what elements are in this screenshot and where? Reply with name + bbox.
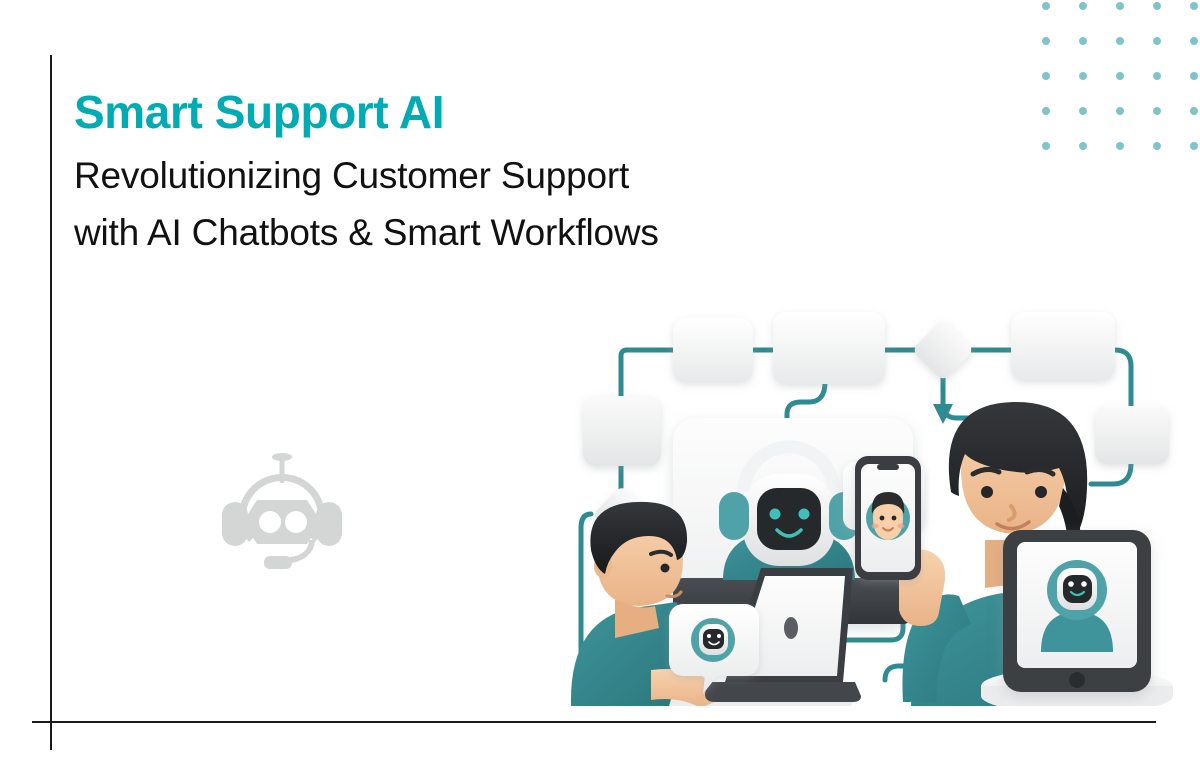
flowchart-box-3 [1011,312,1115,380]
decorative-dot [1190,2,1198,10]
flowchart-box-1 [673,318,753,382]
dot-grid-decoration [1042,2,1200,162]
decorative-dot [1190,37,1198,45]
bottom-horizontal-rule [32,721,1156,723]
flowchart-box-2 [773,312,885,384]
decorative-dot [1042,142,1050,150]
decorative-dot [1079,142,1087,150]
tablet-with-bot-avatar [981,530,1173,706]
phone-with-avatar [855,456,921,580]
decorative-dot [1153,107,1161,115]
decorative-dot [1116,37,1124,45]
decorative-dot [1190,142,1198,150]
flowchart-box-left-small [583,396,661,466]
decorative-dot [1116,142,1124,150]
decorative-dot [1190,72,1198,80]
slide-canvas: Smart Support AI Revolutionizing Custome… [0,0,1200,770]
decorative-dot [1153,37,1161,45]
headline-text-block: Smart Support AI Revolutionizing Custome… [74,88,674,261]
decorative-dot [1116,72,1124,80]
page-title: Smart Support AI [74,88,674,136]
left-vertical-rule [50,55,52,750]
flowchart-diamond-2 [912,319,974,381]
decorative-dot [1116,107,1124,115]
decorative-dot [1079,37,1087,45]
decorative-dot [1190,107,1198,115]
decorative-dot [1079,72,1087,80]
decorative-dot [1079,107,1087,115]
page-subtitle: Revolutionizing Customer Support with AI… [74,148,664,260]
robot-headset-icon [220,452,344,572]
decorative-dot [1042,2,1050,10]
decorative-dot [1079,2,1087,10]
decorative-dot [1042,107,1050,115]
decorative-dot [1042,37,1050,45]
ai-customer-support-illustration: 24/7 [555,278,1195,706]
flowchart-box-right-small [1095,406,1169,464]
decorative-dot [1042,72,1050,80]
decorative-dot [1153,142,1161,150]
decorative-dot [1153,2,1161,10]
decorative-dot [1116,2,1124,10]
decorative-dot [1153,72,1161,80]
